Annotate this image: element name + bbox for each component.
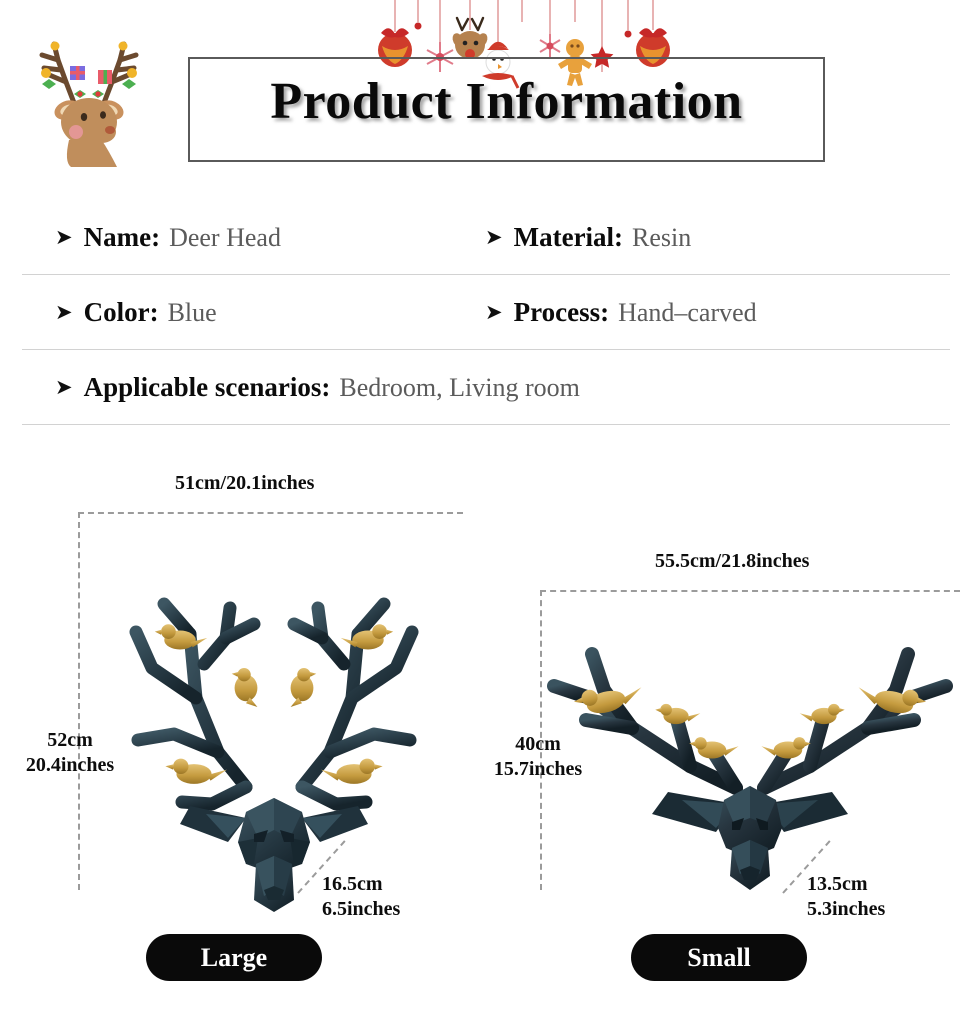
spec-row: ➤ Color: Blue ➤ Process: Hand–carved (0, 275, 971, 350)
arrow-bullet-icon: ➤ (55, 377, 73, 398)
spec-label: Name: (84, 222, 160, 253)
arrow-bullet-icon: ➤ (55, 227, 73, 248)
spec-label: Applicable scenarios: (84, 372, 331, 403)
product-variant-large: 51cm/20.1inches 52cm 20.4inches 16.5cm 6… (0, 440, 486, 1014)
arrow-bullet-icon: ➤ (485, 227, 503, 248)
deer-head-sculpture-small (540, 590, 960, 890)
product-spec-table: ➤ Name: Deer Head ➤ Material: Resin ➤ Co… (0, 200, 971, 425)
depth-dimension-inches: 5.3inches (807, 897, 885, 922)
spec-value: Hand–carved (618, 298, 757, 328)
product-variant-small: 55.5cm/21.8inches 40cm 15.7inches 13.5cm… (485, 440, 971, 1014)
spec-item-color: ➤ Color: Blue (55, 297, 485, 328)
spec-value: Blue (168, 298, 217, 328)
row-divider (22, 424, 950, 425)
width-dimension-label: 51cm/20.1inches (175, 472, 314, 495)
spec-row: ➤ Name: Deer Head ➤ Material: Resin (0, 200, 971, 275)
spec-row: ➤ Applicable scenarios: Bedroom, Living … (0, 350, 971, 425)
spec-label: Process: (514, 297, 609, 328)
page-header: Product Information (0, 0, 971, 185)
spec-item-name: ➤ Name: Deer Head (55, 222, 485, 253)
spec-item-scenarios: ➤ Applicable scenarios: Bedroom, Living … (55, 372, 580, 403)
spec-value: Bedroom, Living room (339, 373, 579, 403)
arrow-bullet-icon: ➤ (485, 302, 503, 323)
christmas-reindeer-icon (14, 22, 164, 167)
spec-item-process: ➤ Process: Hand–carved (485, 297, 757, 328)
deer-head-sculpture-large (78, 512, 463, 912)
size-badge-small[interactable]: Small (631, 934, 807, 981)
spec-label: Material: (514, 222, 623, 253)
spec-label: Color: (84, 297, 159, 328)
page-title: Product Information (188, 72, 825, 131)
product-size-comparison: 51cm/20.1inches 52cm 20.4inches 16.5cm 6… (0, 440, 971, 1014)
arrow-bullet-icon: ➤ (55, 302, 73, 323)
spec-value: Deer Head (169, 223, 281, 253)
size-badge-large[interactable]: Large (146, 934, 322, 981)
spec-value: Resin (632, 223, 691, 253)
width-dimension-label: 55.5cm/21.8inches (655, 550, 809, 573)
spec-item-material: ➤ Material: Resin (485, 222, 691, 253)
